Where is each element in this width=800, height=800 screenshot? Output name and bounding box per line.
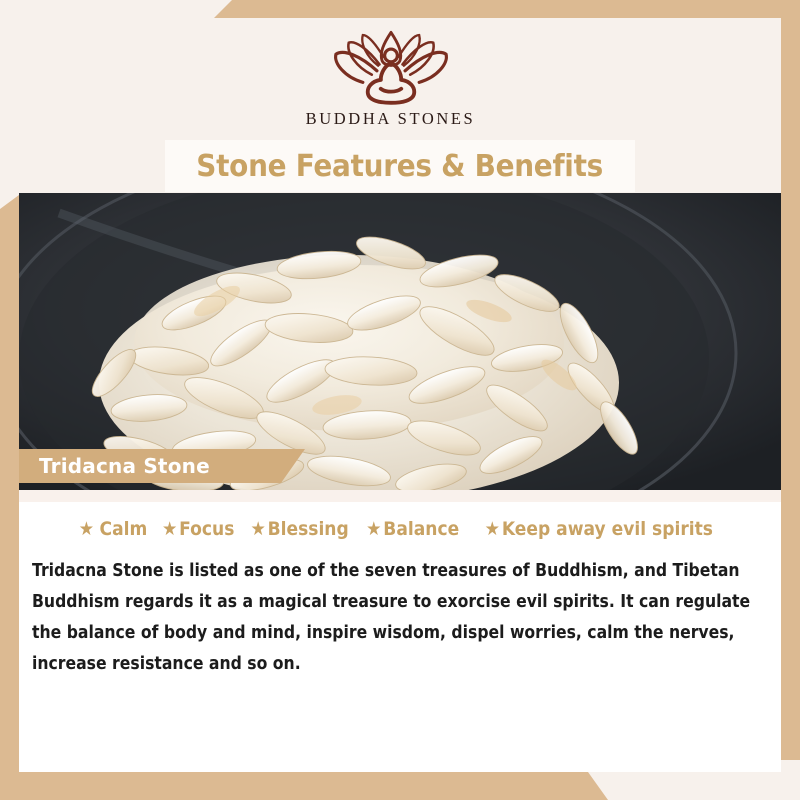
star-icon: ★ xyxy=(484,520,499,539)
benefit-item: ★ Balance xyxy=(367,518,460,540)
content-panel: ★ Calm ★ Focus ★ Blessing ★ Balance ★ Ke… xyxy=(19,490,781,772)
benefit-label: Calm xyxy=(99,518,147,540)
benefit-item: ★ Blessing xyxy=(251,518,349,540)
decorative-band-right xyxy=(781,18,800,760)
section-title-banner: Stone Features & Benefits xyxy=(165,140,635,192)
stone-name-banner: Tridacna Stone xyxy=(19,449,305,483)
page-title: Stone Features & Benefits xyxy=(197,149,604,184)
star-icon: ★ xyxy=(251,520,266,539)
decorative-band-top xyxy=(0,0,800,18)
benefit-item: ★ Focus xyxy=(162,518,234,540)
benefit-item: ★ Keep away evil spirits xyxy=(484,518,712,540)
tridacna-beads-bowl-image xyxy=(19,193,781,490)
star-icon: ★ xyxy=(367,520,382,539)
decorative-band-bottom xyxy=(0,772,800,800)
promo-card: BUDDHA STONES Stone Features & Benefits xyxy=(0,0,800,800)
benefit-label: Keep away evil spirits xyxy=(502,518,713,540)
brand-header: BUDDHA STONES xyxy=(0,18,781,140)
benefits-list: ★ Calm ★ Focus ★ Blessing ★ Balance ★ Ke… xyxy=(19,518,781,540)
brand-name: BUDDHA STONES xyxy=(306,109,476,129)
benefit-label: Balance xyxy=(384,518,460,540)
star-icon: ★ xyxy=(78,520,93,539)
benefit-item: ★ Calm xyxy=(78,518,147,540)
benefit-label: Blessing xyxy=(268,518,349,540)
product-photo xyxy=(19,193,781,490)
decorative-band-left xyxy=(0,195,19,772)
stone-name: Tridacna Stone xyxy=(39,454,210,478)
star-icon: ★ xyxy=(162,520,177,539)
description-paragraph: Tridacna Stone is listed as one of the s… xyxy=(32,556,770,680)
benefit-label: Focus xyxy=(179,518,234,540)
content-top-strip xyxy=(19,490,781,502)
lotus-meditation-figure-icon xyxy=(327,26,455,108)
